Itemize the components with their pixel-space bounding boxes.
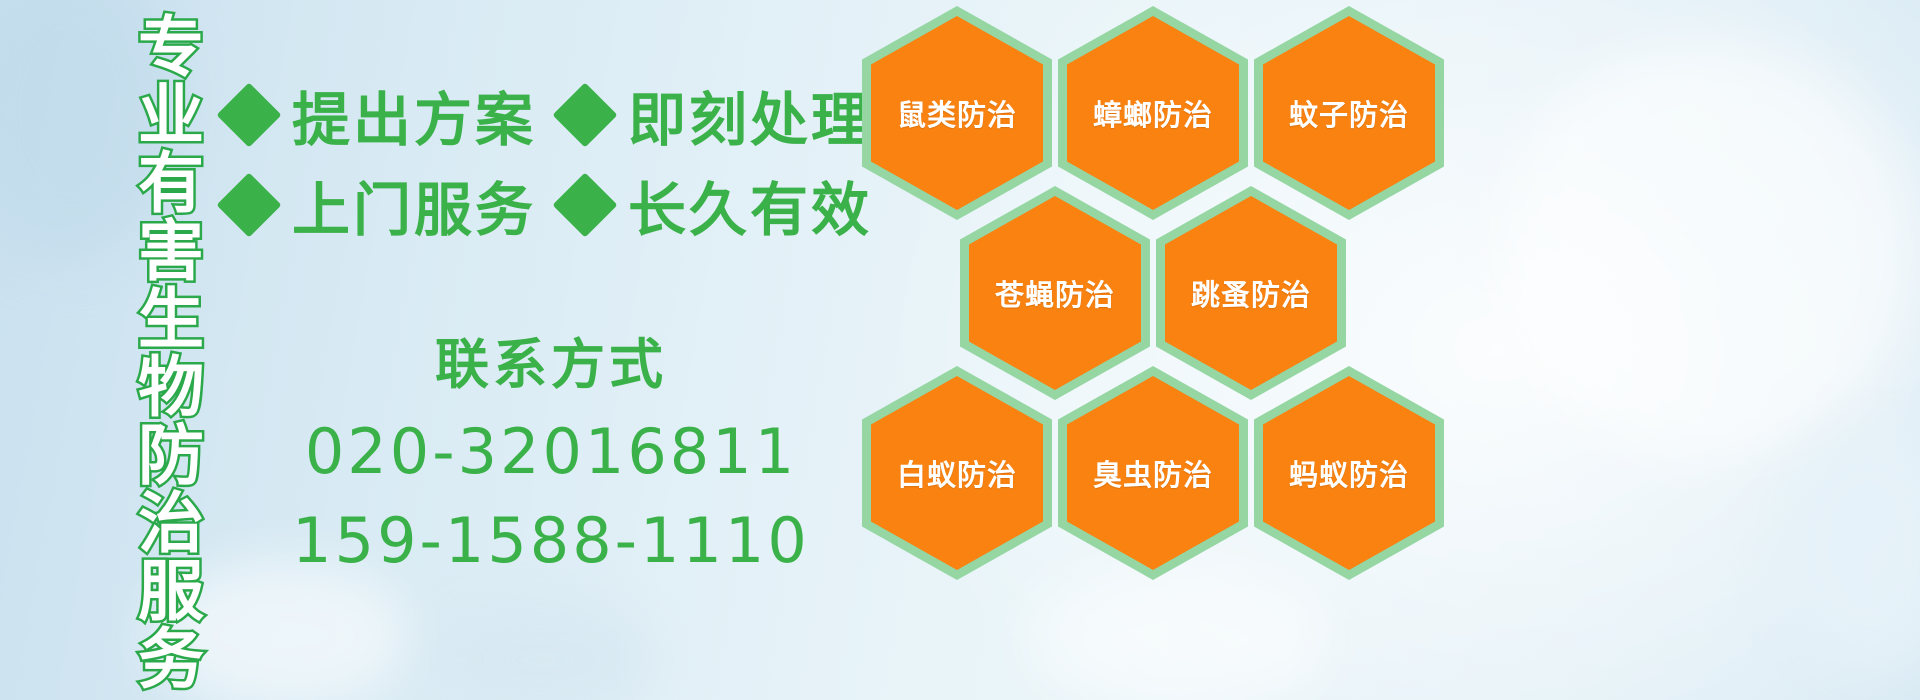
promo-banner: 专业有害生物防治服务 提出方案 即刻处理 上门服务 长久有效 [0, 0, 1920, 700]
service-hex-rodent[interactable]: 鼠类防治 [862, 6, 1052, 220]
background-blur-blob [1780, 430, 1920, 670]
feature-row: 提出方案 即刻处理 [226, 70, 876, 160]
service-label: 跳蚤防治 [1191, 272, 1311, 314]
feature-label: 长久有效 [628, 163, 872, 247]
service-hex-cockroach[interactable]: 蟑螂防治 [1058, 6, 1248, 220]
contact-block: 联系方式 020-32016811 159-1588-1110 [226, 310, 876, 577]
service-hex-mosquito[interactable]: 蚊子防治 [1254, 6, 1444, 220]
feature-label: 提出方案 [292, 73, 536, 157]
service-label: 白蚁防治 [897, 452, 1017, 494]
service-hex-bedbug[interactable]: 臭虫防治 [1058, 366, 1248, 580]
diamond-bullet-icon [216, 172, 281, 237]
background-blur-blob [430, 600, 650, 700]
feature-label: 即刻处理 [628, 73, 872, 157]
feature-item-4: 长久有效 [562, 163, 872, 247]
service-label: 鼠类防治 [897, 92, 1017, 134]
service-hex-fly[interactable]: 苍蝇防治 [960, 186, 1150, 400]
phone-number-mobile[interactable]: 159-1588-1110 [226, 504, 876, 577]
diamond-bullet-icon [216, 82, 281, 147]
background-blur-blob [1500, 40, 1920, 460]
service-label: 蚊子防治 [1289, 92, 1409, 134]
feature-item-1: 提出方案 [226, 73, 536, 157]
service-label: 臭虫防治 [1093, 452, 1213, 494]
service-hex-flea[interactable]: 跳蚤防治 [1156, 186, 1346, 400]
contact-title: 联系方式 [226, 320, 876, 399]
phone-number-landline[interactable]: 020-32016811 [226, 415, 876, 488]
service-label: 苍蝇防治 [995, 272, 1115, 314]
service-label: 蚂蚁防治 [1289, 452, 1409, 494]
service-hex-termite[interactable]: 白蚁防治 [862, 366, 1052, 580]
feature-label: 上门服务 [292, 163, 536, 247]
vertical-brand-title: 专业有害生物防治服务 [104, 12, 200, 692]
service-hex-ant[interactable]: 蚂蚁防治 [1254, 366, 1444, 580]
diamond-bullet-icon [552, 172, 617, 237]
feature-row: 上门服务 长久有效 [226, 160, 876, 250]
feature-list: 提出方案 即刻处理 上门服务 长久有效 [226, 70, 876, 250]
feature-item-2: 即刻处理 [562, 73, 872, 157]
service-label: 蟑螂防治 [1093, 92, 1213, 134]
feature-item-3: 上门服务 [226, 163, 536, 247]
service-honeycomb: 鼠类防治 蟑螂防治 蚊子防治 苍蝇防治 跳蚤防治 白蚁防治 臭虫防治 蚂蚁 [862, 0, 1462, 700]
diamond-bullet-icon [552, 82, 617, 147]
